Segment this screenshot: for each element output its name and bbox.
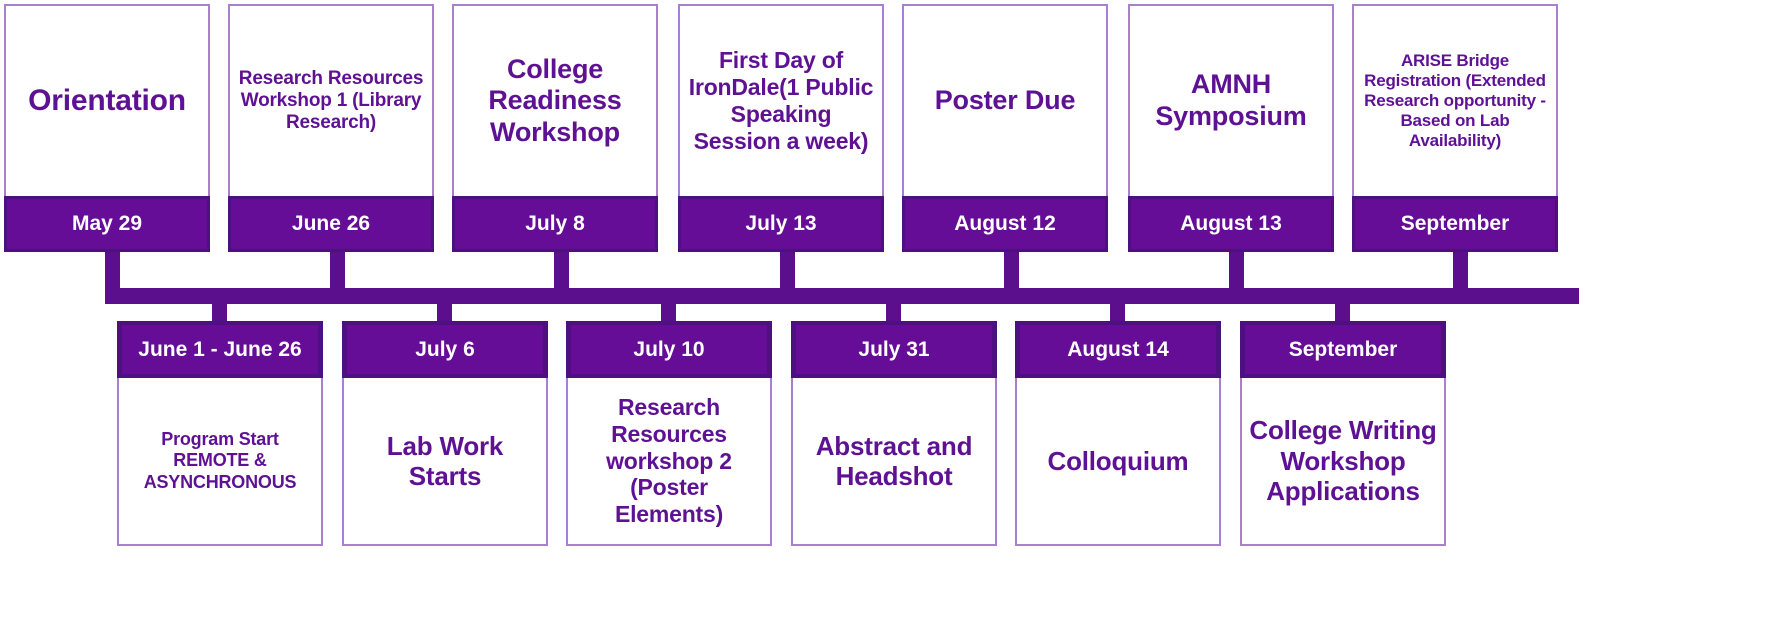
top-milestone-datebar-7: September <box>1352 196 1558 252</box>
bottom-milestone-date-4: July 31 <box>858 338 929 362</box>
bottom-milestone-body-4: Abstract and Headshot <box>791 378 997 546</box>
connector-stub-bottom-3 <box>661 304 676 322</box>
bottom-milestone-body-5: Colloquium <box>1015 378 1221 546</box>
timeline-diagram: Orientation May 29 Research Resources Wo… <box>0 0 1766 622</box>
bottom-milestone-body-1: Program Start REMOTE & ASYNCHRONOUS <box>117 378 323 546</box>
top-milestone-body-3: College Readiness Workshop <box>452 4 658 196</box>
top-milestone-datebar-2: June 26 <box>228 196 434 252</box>
bottom-milestone-label-1: Program Start REMOTE & ASYNCHRONOUS <box>125 429 315 492</box>
bottom-milestone-body-3: Research Resources workshop 2 (Poster El… <box>566 378 772 546</box>
bottom-milestone-label-6: College Writing Workshop Applications <box>1248 415 1438 506</box>
connector-stub-bottom-5 <box>1110 304 1125 322</box>
bottom-milestone-date-6: September <box>1289 338 1398 362</box>
bottom-milestone-datebar-2: July 6 <box>342 321 548 378</box>
connector-stub-top-3 <box>554 252 569 288</box>
top-milestone-label-2: Research Resources Workshop 1 (Library R… <box>236 68 426 135</box>
top-milestone-card-2[interactable]: Research Resources Workshop 1 (Library R… <box>228 4 434 252</box>
top-milestone-label-6: AMNH Symposium <box>1136 69 1326 132</box>
bottom-milestone-label-2: Lab Work Starts <box>350 431 540 492</box>
bottom-milestone-date-1: June 1 - June 26 <box>138 338 301 362</box>
connector-horizontal-bar <box>105 288 1579 304</box>
bottom-milestone-card-3[interactable]: July 10 Research Resources workshop 2 (P… <box>566 321 772 546</box>
top-milestone-body-1: Orientation <box>4 4 210 196</box>
bottom-milestone-datebar-1: June 1 - June 26 <box>117 321 323 378</box>
bottom-milestone-datebar-6: September <box>1240 321 1446 378</box>
top-milestone-date-3: July 8 <box>525 212 585 236</box>
connector-stub-top-5 <box>1004 252 1019 288</box>
top-milestone-datebar-1: May 29 <box>4 196 210 252</box>
top-milestone-body-6: AMNH Symposium <box>1128 4 1334 196</box>
bottom-milestone-date-5: August 14 <box>1067 338 1169 362</box>
connector-stub-bottom-1 <box>212 304 227 322</box>
bottom-milestone-card-1[interactable]: June 1 - June 26 Program Start REMOTE & … <box>117 321 323 546</box>
bottom-milestone-card-2[interactable]: July 6 Lab Work Starts <box>342 321 548 546</box>
bottom-milestone-body-2: Lab Work Starts <box>342 378 548 546</box>
top-milestone-label-1: Orientation <box>28 83 186 118</box>
top-milestone-label-7: ARISE Bridge Registration (Extended Rese… <box>1360 51 1550 150</box>
bottom-milestone-label-5: Colloquium <box>1048 446 1189 476</box>
top-milestone-card-1[interactable]: Orientation May 29 <box>4 4 210 252</box>
top-milestone-date-6: August 13 <box>1180 212 1282 236</box>
top-milestone-card-3[interactable]: College Readiness Workshop July 8 <box>452 4 658 252</box>
top-milestone-body-4: First Day of IronDale(1 Public Speaking … <box>678 4 884 196</box>
bottom-milestone-date-2: July 6 <box>415 338 475 362</box>
bottom-milestone-date-3: July 10 <box>633 338 704 362</box>
top-milestone-body-7: ARISE Bridge Registration (Extended Rese… <box>1352 4 1558 196</box>
connector-stub-bottom-2 <box>437 304 452 322</box>
top-milestone-card-4[interactable]: First Day of IronDale(1 Public Speaking … <box>678 4 884 252</box>
bottom-milestone-card-6[interactable]: September College Writing Workshop Appli… <box>1240 321 1446 546</box>
top-milestone-date-1: May 29 <box>72 212 142 236</box>
top-milestone-datebar-4: July 13 <box>678 196 884 252</box>
top-milestone-card-7[interactable]: ARISE Bridge Registration (Extended Rese… <box>1352 4 1558 252</box>
bottom-milestone-datebar-3: July 10 <box>566 321 772 378</box>
connector-stub-top-1 <box>105 252 120 288</box>
top-milestone-body-2: Research Resources Workshop 1 (Library R… <box>228 4 434 196</box>
top-milestone-card-5[interactable]: Poster Due August 12 <box>902 4 1108 252</box>
top-milestone-date-7: September <box>1401 212 1510 236</box>
connector-stub-top-6 <box>1229 252 1244 288</box>
top-milestone-datebar-5: August 12 <box>902 196 1108 252</box>
top-milestone-label-4: First Day of IronDale(1 Public Speaking … <box>686 47 876 155</box>
bottom-milestone-datebar-5: August 14 <box>1015 321 1221 378</box>
top-milestone-label-5: Poster Due <box>935 85 1076 117</box>
top-milestone-date-4: July 13 <box>745 212 816 236</box>
connector-stub-bottom-4 <box>886 304 901 322</box>
top-milestone-datebar-6: August 13 <box>1128 196 1334 252</box>
bottom-milestone-datebar-4: July 31 <box>791 321 997 378</box>
top-milestone-body-5: Poster Due <box>902 4 1108 196</box>
top-milestone-datebar-3: July 8 <box>452 196 658 252</box>
bottom-milestone-label-4: Abstract and Headshot <box>799 431 989 492</box>
top-milestone-label-3: College Readiness Workshop <box>460 54 650 149</box>
top-milestone-date-2: June 26 <box>292 212 370 236</box>
connector-stub-top-2 <box>330 252 345 288</box>
connector-stub-bottom-6 <box>1335 304 1350 322</box>
bottom-milestone-card-4[interactable]: July 31 Abstract and Headshot <box>791 321 997 546</box>
top-milestone-card-6[interactable]: AMNH Symposium August 13 <box>1128 4 1334 252</box>
bottom-milestone-label-3: Research Resources workshop 2 (Poster El… <box>574 394 764 529</box>
bottom-milestone-body-6: College Writing Workshop Applications <box>1240 378 1446 546</box>
connector-stub-top-4 <box>780 252 795 288</box>
top-milestone-date-5: August 12 <box>954 212 1056 236</box>
connector-stub-top-7 <box>1453 252 1468 288</box>
bottom-milestone-card-5[interactable]: August 14 Colloquium <box>1015 321 1221 546</box>
